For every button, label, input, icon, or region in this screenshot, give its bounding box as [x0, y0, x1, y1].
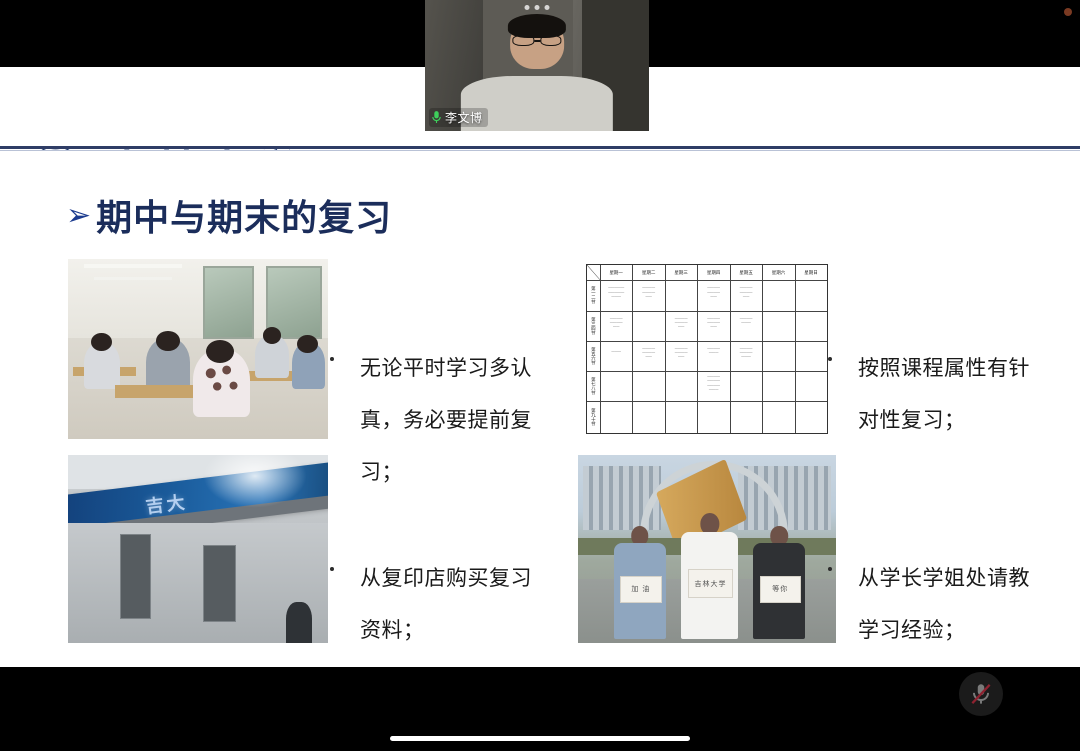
bullet-item-4: 从学长学姐处请教学习经验； — [828, 553, 1043, 657]
bullet-item-1: 无论平时学习多认真，务必要提前复习； — [330, 343, 545, 499]
bullet-dot-icon — [828, 357, 832, 361]
bullet-dot-icon — [330, 567, 334, 571]
student-sign-text: 加 油 — [621, 577, 660, 602]
copy-shop-photo: 吉大 — [68, 455, 328, 643]
bullet-item-4-text: 从学长学姐处请教学习经验； — [858, 553, 1043, 657]
copy-shop-photo-art: 吉大 — [68, 455, 328, 643]
bullet-item-1-text: 无论平时学习多认真，务必要提前复习； — [360, 343, 545, 499]
schedule-col-header: 星期五 — [730, 265, 762, 280]
participant-name-label: 李文博 — [445, 109, 483, 126]
bullet-item-3: 从复印店购买复习资料； — [330, 553, 545, 657]
bullet-item-2-text: 按照课程属性有针对性复习； — [858, 343, 1043, 447]
recording-indicator-dot — [1064, 8, 1072, 16]
header-divider-rule — [0, 146, 1080, 149]
schedule-row-header: 第九十节 — [587, 401, 600, 433]
schedule-col-header: 星期日 — [795, 265, 827, 280]
bullet-item-2: 按照课程属性有针对性复习； — [828, 343, 1043, 447]
schedule-col-header: 星期六 — [762, 265, 794, 280]
course-schedule-art: 星期一 星期二 星期三 星期四 星期五 星期六 星期日 第一二节 第三四节 第五… — [578, 259, 836, 439]
slide-section-heading: ➢ 期中与期末的复习 — [66, 189, 392, 241]
microphone-muted-icon — [968, 681, 994, 707]
schedule-col-header: 星期一 — [600, 265, 632, 280]
campus-students-photo: 加 油 吉林大学 等你 — [578, 455, 836, 643]
mic-mute-button[interactable] — [959, 672, 1003, 716]
schedule-col-header: 星期四 — [697, 265, 729, 280]
bullet-dot-icon — [828, 567, 832, 571]
schedule-row-header: 第七八节 — [587, 371, 600, 401]
video-window-drag-handle[interactable] — [525, 5, 550, 10]
student-sign-text: 吉林大学 — [689, 570, 732, 598]
course-schedule-table-photo: 星期一 星期二 星期三 星期四 星期五 星期六 星期日 第一二节 第三四节 第五… — [578, 259, 836, 439]
participant-name-chip: 李文博 — [429, 108, 488, 127]
bullet-dot-icon — [330, 357, 334, 361]
shared-slide-area[interactable]: JILIN UNIVERSITY · CHINA 吉林大学 1946 吉林大学 … — [0, 67, 1080, 667]
participant-video-window[interactable]: 李文博 — [425, 0, 649, 131]
schedule-row-header: 第三四节 — [587, 311, 600, 341]
classroom-photo-art — [68, 259, 328, 439]
home-indicator-bar — [390, 736, 690, 741]
screen-root: JILIN UNIVERSITY · CHINA 吉林大学 1946 吉林大学 … — [0, 0, 1080, 751]
schedule-col-header: 星期三 — [665, 265, 697, 280]
schedule-row-header: 第五六节 — [587, 341, 600, 371]
arrow-bullet-icon: ➢ — [66, 201, 92, 231]
student-sign-text: 等你 — [761, 577, 800, 602]
classroom-study-photo — [68, 259, 328, 439]
microphone-icon — [431, 110, 442, 125]
schedule-col-header: 星期二 — [632, 265, 664, 280]
slide-section-heading-text: 期中与期末的复习 — [96, 189, 392, 241]
schedule-row-header: 第一二节 — [587, 280, 600, 310]
bullet-item-3-text: 从复印店购买复习资料； — [360, 553, 545, 657]
campus-students-photo-art: 加 油 吉林大学 等你 — [578, 455, 836, 643]
